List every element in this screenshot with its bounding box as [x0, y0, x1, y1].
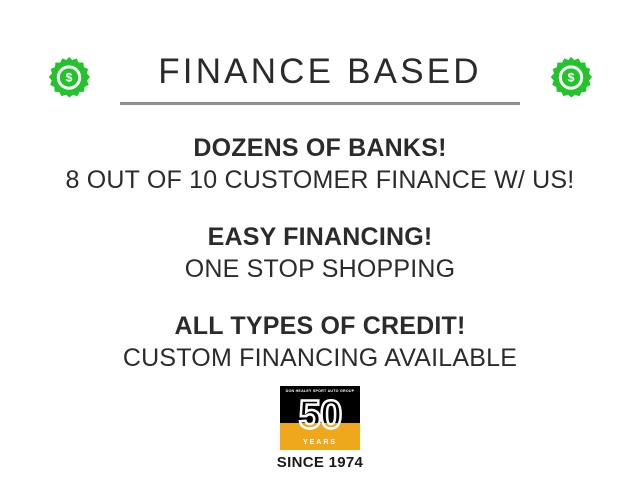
title-wrap: FINANCE BASED	[118, 51, 522, 105]
dealer-logo: DON HEALEY SPORT AUTO GROUP 50 YEARS SIN…	[0, 386, 640, 472]
message-block-credit: ALL TYPES OF CREDIT! CUSTOM FINANCING AV…	[0, 311, 640, 375]
page-title: FINANCE BASED	[118, 51, 522, 93]
message-subline: ONE STOP SHOPPING	[0, 253, 640, 286]
message-block-banks: DOZENS OF BANKS! 8 OUT OF 10 CUSTOMER FI…	[0, 133, 640, 197]
message-headline: ALL TYPES OF CREDIT!	[0, 311, 640, 342]
message-block-easy-financing: EASY FINANCING! ONE STOP SHOPPING	[0, 222, 640, 286]
message-subline: 8 OUT OF 10 CUSTOMER FINANCE W/ US!	[0, 164, 640, 197]
anniversary-badge: DON HEALEY SPORT AUTO GROUP 50 YEARS	[280, 386, 360, 450]
message-headline: DOZENS OF BANKS!	[0, 133, 640, 164]
anniversary-years-label: YEARS	[280, 438, 360, 447]
anniversary-number: 50	[280, 393, 360, 437]
gear-dollar-icon-right: $	[548, 55, 594, 101]
header: $ FINANCE BASED $	[0, 42, 640, 114]
svg-text:$: $	[66, 71, 73, 85]
finance-based-slide: $ FINANCE BASED $ DOZENS OF BANKS! 8 OUT…	[0, 0, 640, 480]
svg-text:$: $	[568, 71, 575, 85]
message-list: DOZENS OF BANKS! 8 OUT OF 10 CUSTOMER FI…	[0, 133, 640, 375]
title-divider	[120, 102, 520, 105]
gear-dollar-icon-left: $	[46, 55, 92, 101]
message-subline: CUSTOM FINANCING AVAILABLE	[0, 342, 640, 375]
message-headline: EASY FINANCING!	[0, 222, 640, 253]
since-label: SINCE 1974	[277, 453, 363, 472]
